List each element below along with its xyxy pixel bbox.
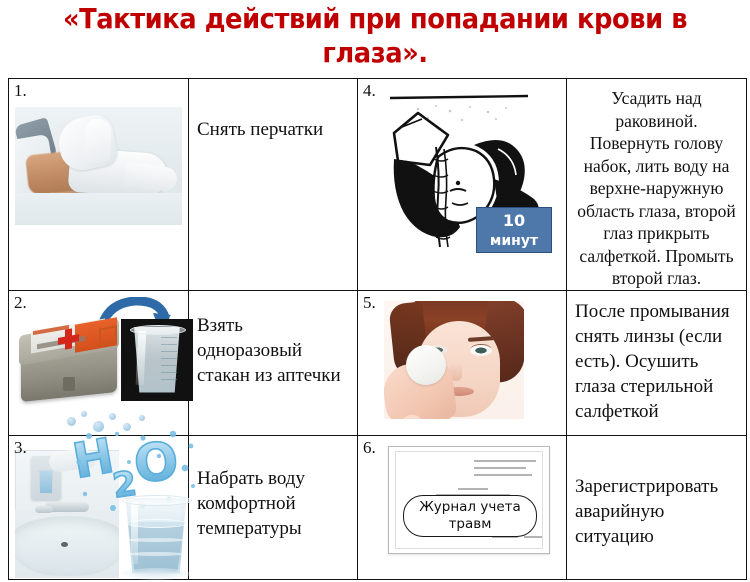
measuring-cup-photo	[121, 319, 193, 401]
droplet	[109, 413, 116, 420]
poster-sheet: «Тактика действий при попадании крови в …	[0, 0, 750, 561]
text-line	[474, 474, 532, 476]
step-1-label: Снять перчатки	[189, 79, 357, 142]
cell-step-6-text: Зарегистрировать аварийную ситуацию	[567, 435, 747, 579]
text-line	[458, 488, 488, 490]
cell-step-2-image: 2.	[9, 290, 189, 435]
document-header-lines	[474, 460, 536, 476]
glass-highlight	[131, 502, 138, 564]
table-row: 3.	[9, 435, 747, 579]
cell-step-1-image: 1.	[9, 79, 189, 291]
step-6-label: Зарегистрировать аварийную ситуацию	[567, 436, 746, 549]
text-line	[474, 460, 536, 462]
page-title: «Тактика действий при попадании крови в …	[30, 2, 720, 70]
drain-hole	[61, 542, 68, 547]
droplet	[67, 417, 76, 426]
duration-badge: 10 минут	[476, 207, 552, 253]
table-row: 2.	[9, 290, 747, 435]
cell-step-5-image: 5.	[358, 290, 567, 435]
journal-callout: Журнал учета травм	[403, 495, 537, 537]
cell-step-6-image: 6.	[358, 435, 567, 579]
injury-log-document-photo: Журнал учета травм	[388, 446, 550, 554]
faucet-handle-shape	[35, 506, 53, 513]
step-3-label: Набрать воду комфортной температуры	[189, 436, 357, 541]
cell-step-5-text: После промывания снять линзы (если есть)…	[567, 290, 747, 435]
finger-shape	[84, 118, 112, 163]
step-5-label: После промывания снять линзы (если есть)…	[567, 291, 746, 424]
first-aid-kit-photo	[19, 319, 123, 405]
cotton-pad-shape	[406, 345, 446, 385]
text-line	[474, 467, 526, 469]
cup-rim	[130, 325, 186, 335]
table-row: 1. Снять перчатки	[9, 79, 747, 291]
text-line	[524, 536, 542, 538]
step-number-6: 6.	[363, 438, 376, 458]
step-number-1: 1.	[14, 81, 27, 101]
dispenser-window	[39, 470, 53, 494]
cell-step-3-text: Набрать воду комфортной температуры	[189, 435, 358, 579]
step-2-label: Взять одноразовый стакан из аптечки	[189, 291, 357, 388]
kit-square-mark	[99, 325, 117, 346]
glass-rim	[122, 495, 192, 506]
right-eye-shape	[470, 345, 492, 356]
cell-step-4-image: 4.	[358, 79, 567, 291]
kit-latch-shape	[63, 377, 75, 391]
step-number-5: 5.	[363, 293, 376, 313]
glass-base-shadow	[121, 568, 191, 580]
woman-wiping-eye-photo	[384, 301, 524, 419]
glass-of-water-photo	[115, 494, 199, 582]
duration-value: 10	[477, 210, 551, 231]
cup-graduations	[161, 337, 177, 381]
cell-step-3-image: 3.	[9, 435, 189, 579]
droplet	[81, 411, 87, 417]
step-number-2: 2.	[14, 293, 27, 313]
steps-table: 1. Снять перчатки	[8, 78, 747, 580]
droplet	[139, 415, 145, 421]
document-signature-lines	[492, 536, 542, 546]
cell-step-1-text: Снять перчатки	[189, 79, 358, 291]
step-number-4: 4.	[363, 81, 376, 101]
finger-shape	[396, 412, 425, 418]
step-number-3: 3.	[14, 438, 27, 458]
duration-unit: минут	[477, 231, 551, 252]
cell-step-2-text: Взять одноразовый стакан из аптечки	[189, 290, 358, 435]
removing-gloves-photo	[15, 107, 182, 225]
cell-step-4-text: Усадить над раковиной. Повернуть голову …	[567, 79, 747, 291]
svg-text:O: O	[131, 431, 181, 495]
step-4-label: Усадить над раковиной. Повернуть голову …	[567, 79, 746, 290]
counter-surface	[15, 193, 182, 225]
